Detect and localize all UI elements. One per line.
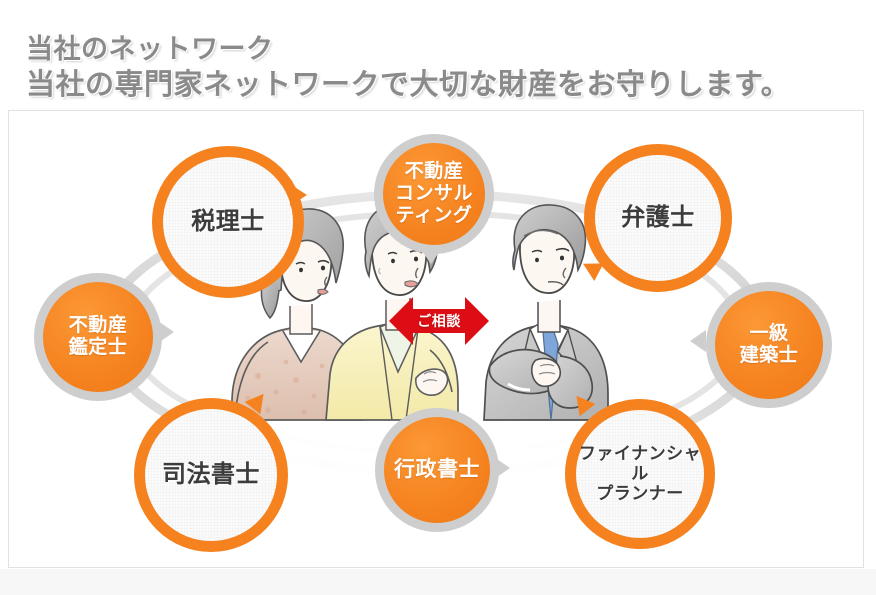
node-zeirishi-label: 税理士	[191, 208, 265, 236]
node-ikkyu-kenchikushi-pointer-icon	[690, 330, 706, 352]
page-title-line1: 当社のネットワーク	[26, 32, 790, 67]
consultation-label: ご相談	[389, 309, 489, 333]
node-gyosei-shoshi-label: 行政書士	[394, 458, 480, 482]
network-diagram-page: 当社のネットワーク 当社の専門家ネットワークで大切な財産をお守りします。	[0, 0, 876, 595]
node-fudosan-consulting-label: 不動産 コンサル ティング	[395, 161, 473, 227]
node-fudosan-consulting[interactable]: 不動産 コンサル ティング	[374, 134, 494, 254]
node-zeirishi[interactable]: 税理士	[152, 146, 304, 298]
node-gyosei-shoshi[interactable]: 行政書士	[375, 408, 499, 532]
node-shiho-shoshi-label: 司法書士	[162, 461, 260, 489]
node-ikkyu-kenchikushi[interactable]: 一級 建築士	[706, 282, 832, 408]
node-shiho-shoshi[interactable]: 司法書士	[134, 398, 288, 552]
page-title: 当社のネットワーク 当社の専門家ネットワークで大切な財産をお守りします。	[26, 32, 790, 105]
page-title-line2: 当社の専門家ネットワークで大切な財産をお守りします。	[26, 67, 790, 105]
node-ikkyu-kenchikushi-label: 一級 建築士	[740, 323, 799, 367]
node-bengoshi-label: 弁護士	[621, 204, 695, 232]
node-zeirishi-pointer-icon	[290, 184, 307, 206]
node-fudosan-kanteishi[interactable]: 不動産 鑑定士	[34, 273, 162, 401]
page-bottom-strip	[0, 569, 876, 595]
node-bengoshi[interactable]: 弁護士	[584, 144, 732, 292]
node-fudosan-kanteishi-pointer-icon	[158, 321, 174, 343]
node-financial-planner-label: ファイナンシャル プランナー	[576, 444, 704, 503]
node-fudosan-kanteishi-label: 不動産 鑑定士	[69, 315, 128, 359]
node-financial-planner[interactable]: ファイナンシャル プランナー	[565, 399, 715, 549]
node-gyosei-shoshi-pointer-icon	[494, 457, 510, 479]
node-fudosan-consulting-pointer-icon	[420, 248, 442, 264]
